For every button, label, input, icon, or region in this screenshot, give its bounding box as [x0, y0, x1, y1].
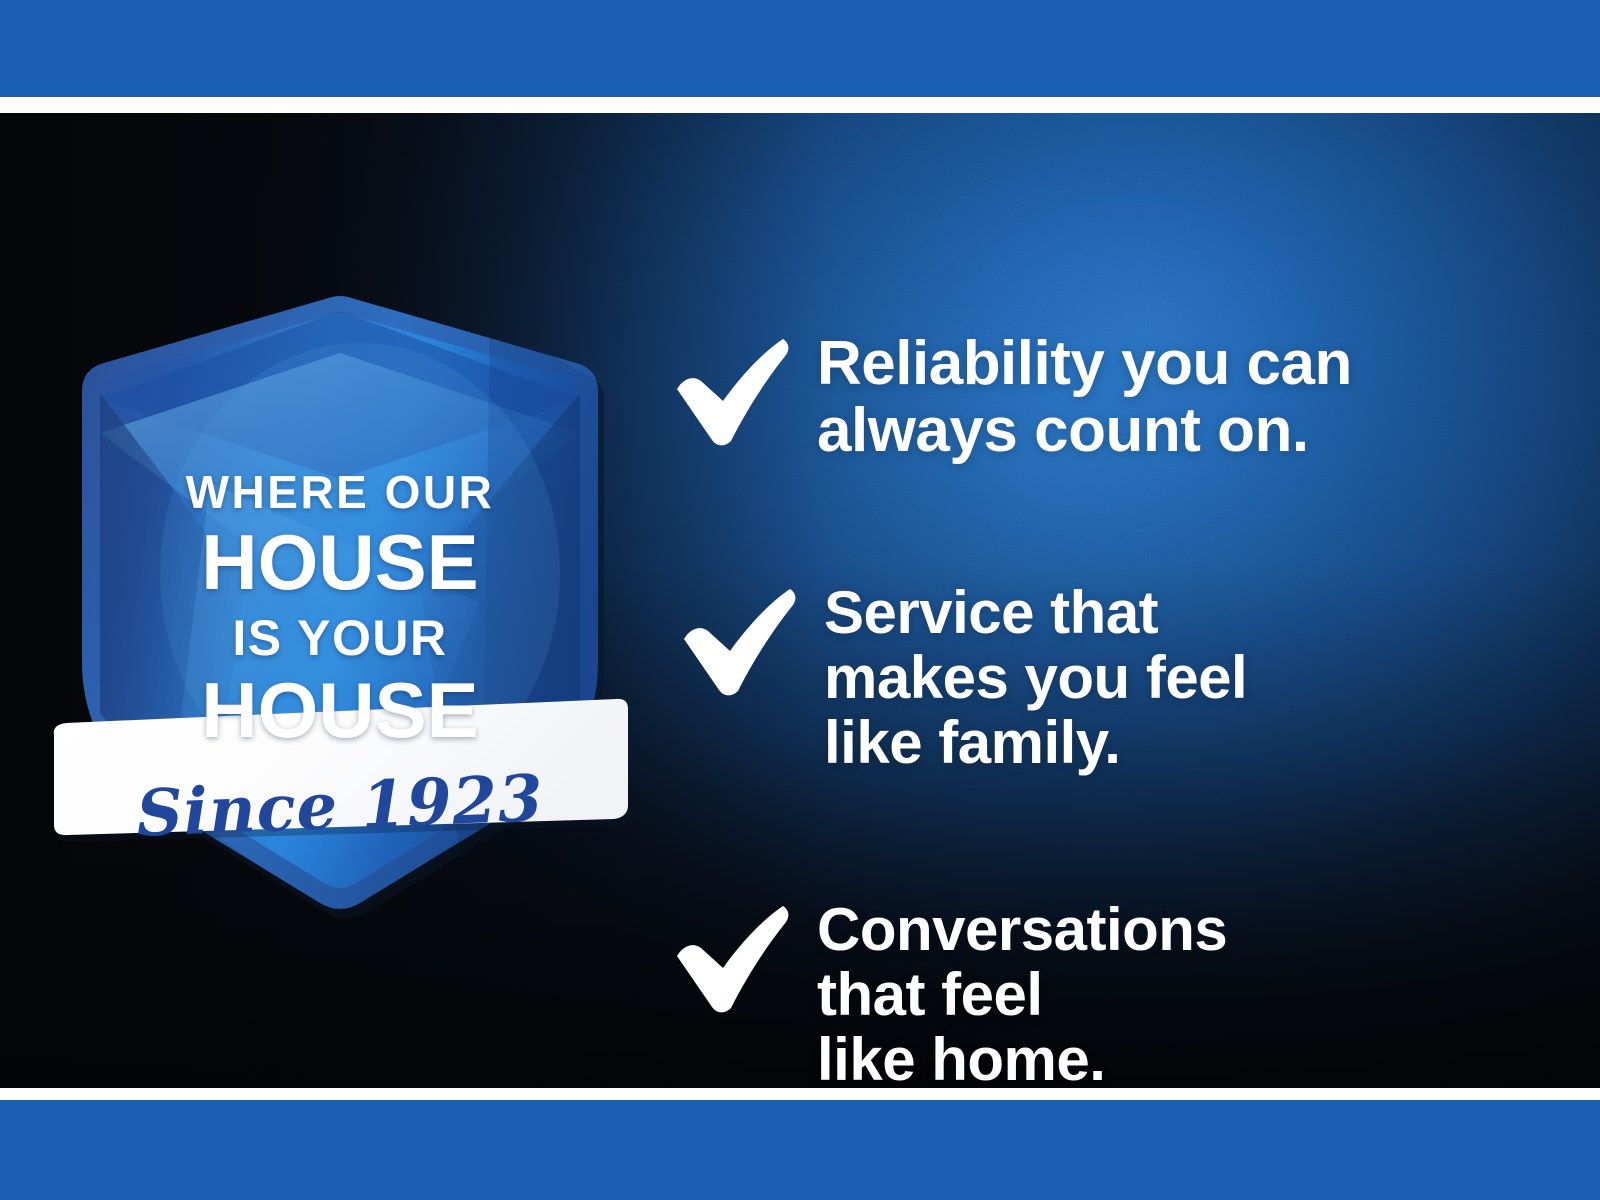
benefit-text-3: Conversations that feel like home.	[817, 898, 1227, 1088]
check-icon	[680, 587, 798, 699]
main-stage: WHERE OUR HOUSE IS YOUR HOUSE Since 1923…	[0, 113, 1600, 1088]
promo-graphic: WHERE OUR HOUSE IS YOUR HOUSE Since 1923…	[0, 0, 1600, 1200]
benefit-item-3: Conversations that feel like home.	[673, 898, 1227, 1088]
benefit-item-1: Reliability you can always count on.	[673, 331, 1352, 465]
shield-badge: WHERE OUR HOUSE IS YOUR HOUSE Since 1923	[60, 283, 620, 923]
benefits-list: Reliability you can always count on. Ser…	[655, 226, 1475, 1088]
check-icon	[673, 904, 791, 1016]
top-brand-bar	[0, 0, 1600, 97]
check-icon	[673, 337, 791, 449]
benefit-text-1: Reliability you can always count on.	[817, 331, 1352, 465]
bottom-brand-bar	[0, 1100, 1600, 1200]
benefit-text-2: Service that makes you feel like family.	[824, 581, 1247, 775]
benefit-item-2: Service that makes you feel like family.	[680, 581, 1247, 775]
